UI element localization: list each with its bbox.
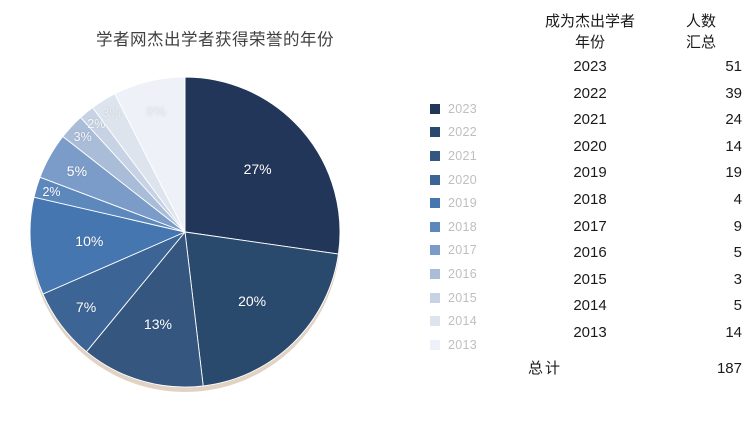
- table-row: 20153: [520, 267, 742, 294]
- cell-count: 4: [660, 187, 742, 214]
- table-row: 20145: [520, 293, 742, 320]
- legend-item-label: 2021: [448, 149, 477, 163]
- legend-swatch-icon: [430, 222, 440, 232]
- legend-item-label: 2014: [448, 314, 477, 328]
- legend-swatch-icon: [430, 151, 440, 161]
- table-row: 20184: [520, 187, 742, 214]
- table-row: 20179: [520, 214, 742, 241]
- legend-item-label: 2015: [448, 291, 477, 305]
- header-year-line2: 年份: [520, 33, 660, 54]
- chart-title: 学者网杰出学者获得荣誉的年份: [0, 26, 430, 50]
- pie-chart: 27%20%13%7%10%2%5%3%2%3%8%: [25, 72, 345, 392]
- header-year-line1: 成为杰出学者: [520, 12, 660, 33]
- cell-year: 2022: [520, 81, 660, 108]
- cell-year: 2017: [520, 214, 660, 241]
- cell-year: 2013: [520, 320, 660, 347]
- table-row: 202124: [520, 107, 742, 134]
- legend-item-2021[interactable]: 2021: [430, 144, 477, 168]
- cell-count: 24: [660, 107, 742, 134]
- cell-count: 19: [660, 160, 742, 187]
- legend-swatch-icon: [430, 269, 440, 279]
- legend-item-label: 2023: [448, 102, 477, 116]
- cell-year: 2016: [520, 240, 660, 267]
- table-head: 成为杰出学者 年份 人数 汇总: [520, 12, 742, 54]
- table-header-row: 成为杰出学者 年份 人数 汇总: [520, 12, 742, 54]
- legend-swatch-icon: [430, 127, 440, 137]
- table-row: 202014: [520, 134, 742, 161]
- legend-swatch-icon: [430, 104, 440, 114]
- legend-item-2016[interactable]: 2016: [430, 262, 477, 286]
- cell-count: 14: [660, 134, 742, 161]
- legend-item-label: 2018: [448, 220, 477, 234]
- cell-count: 39: [660, 81, 742, 108]
- cell-count: 14: [660, 320, 742, 347]
- table-row: 20165: [520, 240, 742, 267]
- total-label: 总计: [520, 356, 660, 383]
- legend-item-label: 2019: [448, 196, 477, 210]
- cell-year: 2021: [520, 107, 660, 134]
- legend-item-label: 2016: [448, 267, 477, 281]
- legend-swatch-icon: [430, 198, 440, 208]
- cell-count: 51: [660, 54, 742, 81]
- legend-item-label: 2013: [448, 338, 477, 352]
- header-count-cell: 人数 汇总: [660, 12, 742, 54]
- legend-item-2020[interactable]: 2020: [430, 168, 477, 192]
- cell-year: 2020: [520, 134, 660, 161]
- summary-table-panel: 成为杰出学者 年份 人数 汇总 202351202239202124202014…: [520, 0, 752, 445]
- legend-swatch-icon: [430, 245, 440, 255]
- cell-count: 3: [660, 267, 742, 294]
- pie-slice-2022[interactable]: [185, 232, 338, 386]
- header-count-line1: 人数: [660, 12, 742, 33]
- chart-legend: 2023202220212020201920182017201620152014…: [430, 97, 477, 357]
- header-count-line2: 汇总: [660, 33, 742, 54]
- cell-year: 2014: [520, 293, 660, 320]
- spacer-cell: [660, 347, 742, 356]
- legend-item-2018[interactable]: 2018: [430, 215, 477, 239]
- pie-chart-panel: 学者网杰出学者获得荣誉的年份 27%20%13%7%10%2%5%3%2%3%8…: [0, 0, 520, 445]
- table-row: 201919: [520, 160, 742, 187]
- header-year-cell: 成为杰出学者 年份: [520, 12, 660, 54]
- table-total-row: 总计187: [520, 356, 742, 383]
- legend-item-label: 2017: [448, 243, 477, 257]
- legend-item-2019[interactable]: 2019: [430, 191, 477, 215]
- legend-item-2013[interactable]: 2013: [430, 333, 477, 357]
- cell-count: 5: [660, 240, 742, 267]
- cell-year: 2018: [520, 187, 660, 214]
- legend-item-2014[interactable]: 2014: [430, 309, 477, 333]
- summary-table: 成为杰出学者 年份 人数 汇总 202351202239202124202014…: [520, 12, 742, 382]
- legend-swatch-icon: [430, 340, 440, 350]
- total-value: 187: [660, 356, 742, 383]
- legend-item-label: 2020: [448, 173, 477, 187]
- legend-item-2015[interactable]: 2015: [430, 286, 477, 310]
- cell-year: 2019: [520, 160, 660, 187]
- legend-item-2023[interactable]: 2023: [430, 97, 477, 121]
- cell-count: 5: [660, 293, 742, 320]
- cell-year: 2015: [520, 267, 660, 294]
- legend-item-2022[interactable]: 2022: [430, 121, 477, 145]
- pie-chart-svg: [25, 72, 345, 392]
- table-row: 201314: [520, 320, 742, 347]
- pie-slice-2023[interactable]: [185, 77, 340, 254]
- table-row: 202239: [520, 81, 742, 108]
- chart-screenshot: 学者网杰出学者获得荣誉的年份 27%20%13%7%10%2%5%3%2%3%8…: [0, 0, 752, 445]
- table-row: 202351: [520, 54, 742, 81]
- legend-swatch-icon: [430, 316, 440, 326]
- cell-count: 9: [660, 214, 742, 241]
- table-spacer: [520, 347, 742, 356]
- legend-item-label: 2022: [448, 125, 477, 139]
- table-body: 2023512022392021242020142019192018420179…: [520, 54, 742, 382]
- spacer-cell: [520, 347, 660, 356]
- legend-swatch-icon: [430, 293, 440, 303]
- legend-swatch-icon: [430, 175, 440, 185]
- cell-year: 2023: [520, 54, 660, 81]
- legend-item-2017[interactable]: 2017: [430, 239, 477, 263]
